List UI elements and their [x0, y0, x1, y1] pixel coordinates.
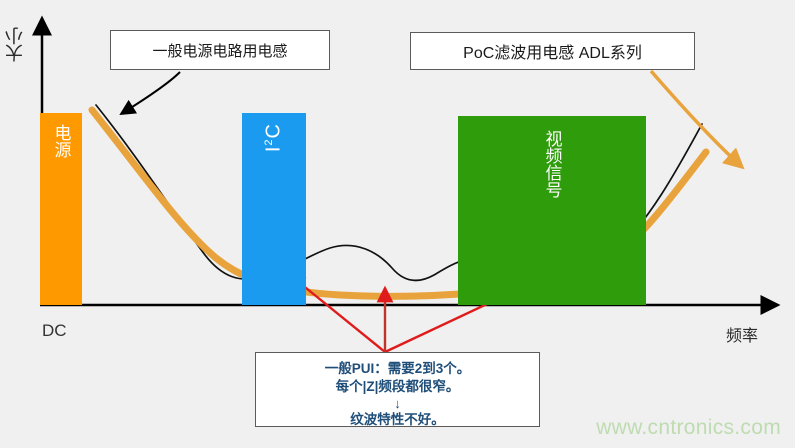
band-video: 视频信号 [458, 116, 646, 305]
pui-line-3: 纹波特性不好。 [256, 411, 539, 429]
band-i2c-label: I2C [263, 123, 286, 152]
callout-general-text: 一般电源电路用电感 [152, 40, 287, 61]
general-callout-leader [121, 72, 180, 114]
band-power-label: 电源 [49, 124, 74, 158]
callout-poc-adl: PoC滤波用电感 ADL系列 [410, 32, 695, 70]
callout-general-inductor: 一般电源电路用电感 [110, 30, 330, 70]
callout-pui-note: 一般PUI：需要2到3个。 每个|Z|频段都很窄。 ↓ 纹波特性不好。 [255, 352, 540, 427]
band-i2c: I2C [242, 113, 306, 305]
y-axis-label: 大小 [2, 28, 28, 62]
site-watermark: www.cntronics.com [596, 416, 781, 440]
band-power: 电源 [40, 113, 82, 305]
poc-callout-leader [651, 71, 742, 167]
callout-poc-text: PoC滤波用电感 ADL系列 [463, 39, 642, 63]
chart-canvas: 电源 I2C 视频信号 大小 频率 DC 一般电源电路用电感 PoC滤波用电感 … [0, 0, 795, 448]
pui-down-arrow: ↓ [256, 396, 539, 411]
band-video-label: 视频信号 [540, 130, 565, 198]
dc-origin-label: DC [42, 321, 67, 341]
x-axis-label: 频率 [726, 322, 758, 346]
pui-line-2: 每个|Z|频段都很窄。 [256, 378, 539, 396]
pui-line-1: 一般PUI：需要2到3个。 [256, 360, 539, 378]
